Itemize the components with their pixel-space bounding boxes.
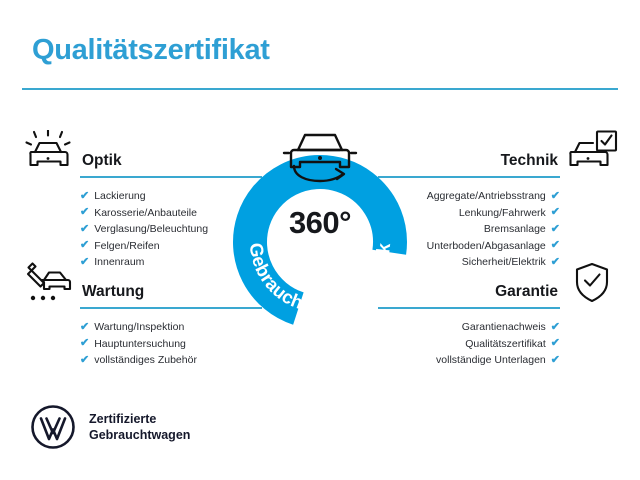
section-wartung: Wartung ✔ Wartung/Inspektion ✔ Hauptunte… xyxy=(22,261,262,369)
vw-logo-icon xyxy=(30,404,76,450)
footer-text: Zertifizierte Gebrauchtwagen xyxy=(89,411,190,443)
footer-brand: Zertifizierte Gebrauchtwagen xyxy=(30,404,190,450)
list-item-label: vollständige Unterlagen xyxy=(436,352,546,369)
page-title: Qualitätszertifikat xyxy=(32,34,270,67)
list-item-label: vollständiges Zubehör xyxy=(94,352,197,369)
section-garantie-header: Garantie xyxy=(378,261,618,309)
list-item-label: Aggregate/Antriebsstrang xyxy=(427,188,546,205)
check-icon: ✔ xyxy=(80,355,89,366)
car-front-rotate-icon xyxy=(270,123,370,185)
list-item-label: Qualitätszertifikat xyxy=(465,336,546,353)
section-wartung-title: Wartung xyxy=(82,283,144,301)
badge-center-label: 360° xyxy=(228,205,412,241)
car-shine-icon xyxy=(22,130,74,176)
check-icon: ✔ xyxy=(80,322,89,333)
list-item-label: Unterboden/Abgasanlage xyxy=(427,238,546,255)
check-icon: ✔ xyxy=(551,240,560,251)
list-item-label: Garantienachweis xyxy=(462,319,546,336)
check-icon: ✔ xyxy=(551,322,560,333)
car-checkbox-icon xyxy=(566,130,618,176)
list-item: ✔ vollständige Unterlagen xyxy=(378,352,560,369)
section-optik-title: Optik xyxy=(82,152,122,170)
section-wartung-header: Wartung xyxy=(22,261,262,309)
section-optik-header: Optik xyxy=(22,130,262,178)
list-item: ✔ Hauptuntersuchung xyxy=(80,336,262,353)
list-item-label: Lenkung/Fahrwerk xyxy=(459,205,546,222)
title-divider xyxy=(22,88,618,90)
check-icon: ✔ xyxy=(551,207,560,218)
check-icon: ✔ xyxy=(80,240,89,251)
check-icon: ✔ xyxy=(80,338,89,349)
list-item-label: Karosserie/Anbauteile xyxy=(94,205,197,222)
section-garantie: Garantie ✔ Garantienachweis ✔ Qualitätsz… xyxy=(378,261,618,369)
check-icon: ✔ xyxy=(80,191,89,202)
check-icon: ✔ xyxy=(80,207,89,218)
check-icon: ✔ xyxy=(551,338,560,349)
list-item-label: Verglasung/Beleuchtung xyxy=(94,221,208,238)
list-item-label: Lackierung xyxy=(94,188,145,205)
list-item-label: Bremsanlage xyxy=(484,221,546,238)
list-item: ✔ Qualitätszertifikat xyxy=(378,336,560,353)
list-item-label: Wartung/Inspektion xyxy=(94,319,184,336)
section-garantie-title: Garantie xyxy=(495,283,558,301)
section-technik-header: Technik xyxy=(378,130,618,178)
list-item-label: Hauptuntersuchung xyxy=(94,336,186,353)
section-technik-title: Technik xyxy=(501,152,558,170)
list-item: ✔ vollständiges Zubehör xyxy=(80,352,262,369)
check-icon: ✔ xyxy=(551,191,560,202)
check-icon: ✔ xyxy=(80,224,89,235)
section-technik: Technik ✔ Aggregate/Antriebsstrang ✔ Len… xyxy=(378,130,618,271)
section-optik: Optik ✔ Lackierung ✔ Karosserie/Anbautei… xyxy=(22,130,262,271)
car-wrench-service-icon xyxy=(22,261,74,307)
shield-check-icon xyxy=(566,261,618,307)
check-icon: ✔ xyxy=(551,355,560,366)
check-icon: ✔ xyxy=(551,224,560,235)
list-item-label: Felgen/Reifen xyxy=(94,238,159,255)
